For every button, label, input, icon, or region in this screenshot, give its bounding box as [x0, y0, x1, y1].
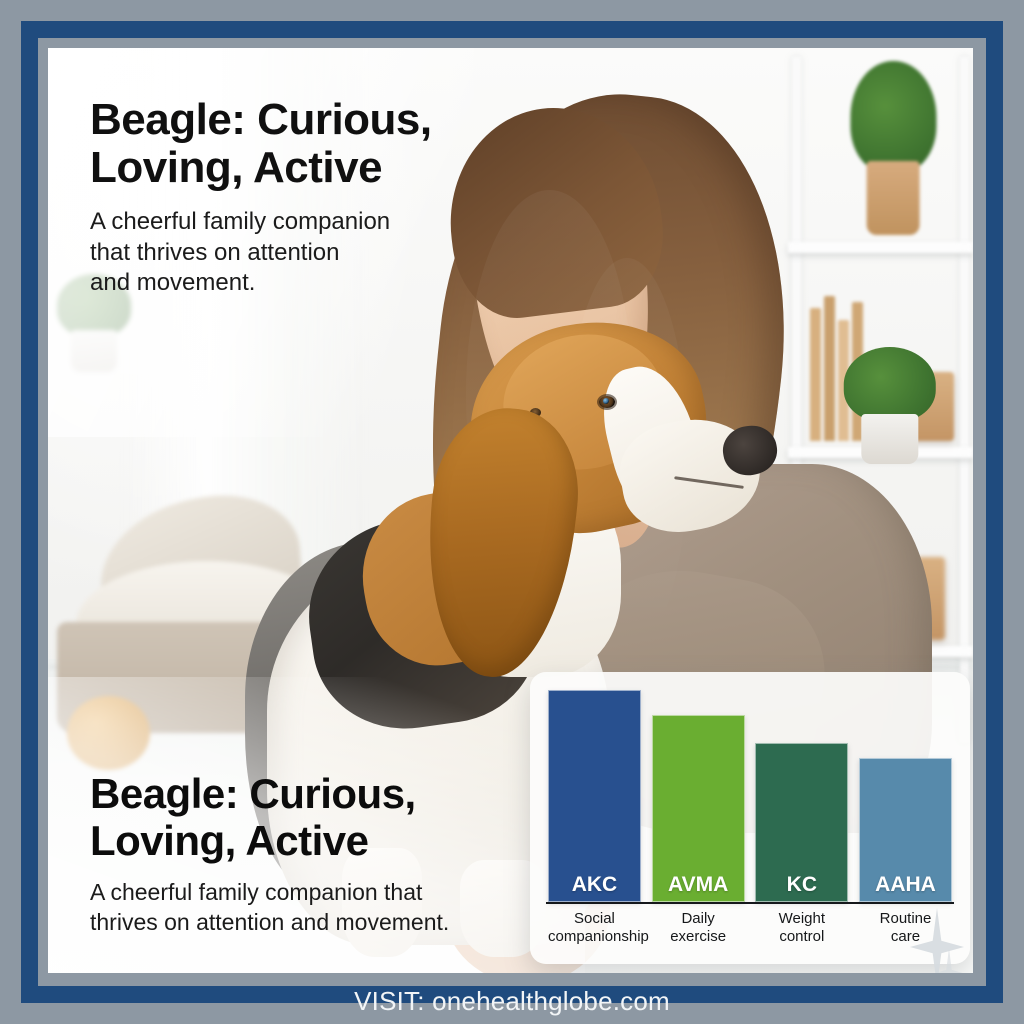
footer-visit-text: VISIT: onehealthglobe.com — [354, 986, 670, 1017]
top-text-block: Beagle: Curious, Loving, Active A cheerf… — [90, 96, 480, 299]
chart-category-label: Socialcompanionship — [548, 910, 641, 947]
chart-bar: AVMA — [652, 715, 745, 902]
chart-x-axis — [546, 902, 954, 904]
footer-bar: VISIT: onehealthglobe.com — [0, 978, 1024, 1024]
chart-bar-label: AAHA — [875, 873, 936, 902]
top-subtitle-line1: A cheerful family companion — [90, 207, 480, 238]
top-subtitle-line3: and movement. — [90, 268, 480, 299]
chart-bar: KC — [755, 743, 848, 902]
bottom-headline-line2: Loving, Active — [90, 817, 550, 864]
top-headline-line1: Beagle: Curious, — [90, 96, 480, 144]
chart-plot-area: AKCAVMAKCAAHA — [548, 690, 952, 902]
bar-chart-card: AKCAVMAKCAAHA SocialcompanionshipDailyex… — [530, 672, 970, 964]
chart-bar-label: AVMA — [668, 873, 728, 902]
bottom-subtitle-line2: thrives on attention and movement. — [90, 908, 550, 938]
chart-bar-column: AAHA — [859, 690, 952, 902]
poster-canvas: Beagle: Curious, Loving, Active A cheerf… — [0, 0, 1024, 1024]
chart-bar: AAHA — [859, 758, 952, 902]
chart-category-label: Dailyexercise — [652, 910, 745, 947]
chart-bar-label: AKC — [572, 873, 618, 902]
bottom-headline-line1: Beagle: Curious, — [90, 770, 550, 817]
chart-bar-label: KC — [787, 873, 817, 902]
bottom-subtitle-line1: A cheerful family companion that — [90, 878, 550, 908]
chart-bar-column: KC — [755, 690, 848, 902]
chart-category-label: Weightcontrol — [755, 910, 848, 947]
bottom-subtitle: A cheerful family companion that thrives… — [90, 878, 550, 938]
chart-bars: AKCAVMAKCAAHA — [548, 690, 952, 902]
chart-bar-column: AKC — [548, 690, 641, 902]
chart-x-tick-labels: SocialcompanionshipDailyexerciseWeightco… — [548, 910, 952, 947]
top-headline-line2: Loving, Active — [90, 144, 480, 192]
chart-bar: AKC — [548, 690, 641, 902]
top-subtitle-line2: that thrives on attention — [90, 238, 480, 269]
sparkle-icon-small — [932, 948, 966, 973]
bottom-text-block: Beagle: Curious, Loving, Active A cheerf… — [90, 770, 550, 938]
chart-bar-column: AVMA — [652, 690, 745, 902]
top-subtitle: A cheerful family companion that thrives… — [90, 207, 480, 299]
top-headline: Beagle: Curious, Loving, Active — [90, 96, 480, 193]
bottom-headline: Beagle: Curious, Loving, Active — [90, 770, 550, 864]
